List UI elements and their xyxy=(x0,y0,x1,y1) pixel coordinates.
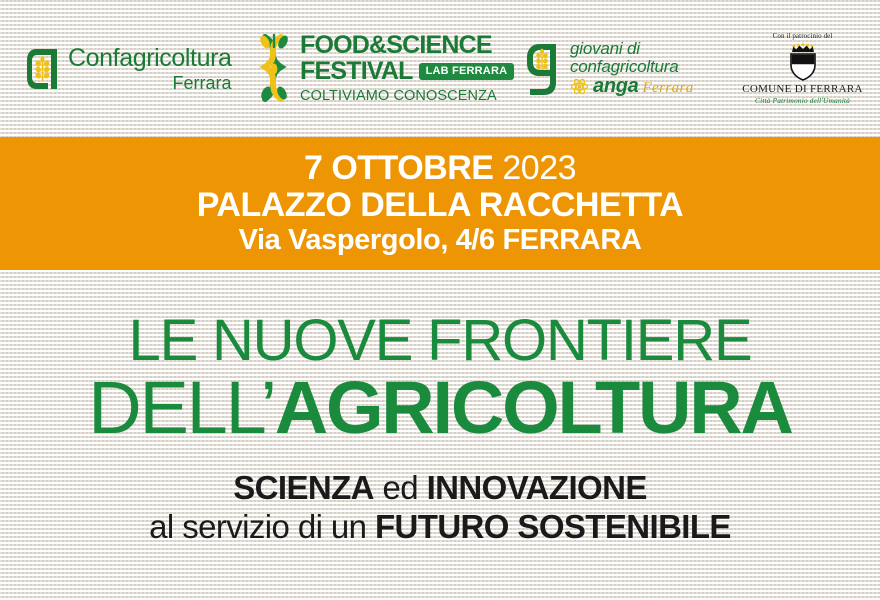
comune-patronage-label: Con il patrocinio del xyxy=(742,32,863,40)
flower-atom-icon xyxy=(570,77,589,96)
anga-line2: confagricoltura xyxy=(570,58,694,75)
event-date-line: 7 OTTOBRE 2023 xyxy=(304,151,576,186)
anga-line3: anga xyxy=(593,76,638,96)
poster-subheadline: SCIENZA ed INNOVAZIONE al servizio di un… xyxy=(0,470,880,544)
event-address-street: Via Vaspergolo, 4/6 xyxy=(239,224,495,256)
dna-wheat-helix-icon xyxy=(255,33,293,105)
subheadline-phrase-servizio: al servizio di un xyxy=(149,508,366,545)
subheadline-line-2: al servizio di un FUTURO SOSTENIBILE xyxy=(0,509,880,545)
comune-unesco-label: Città Patrimonio dell'Umanità xyxy=(742,97,863,106)
wheat-ear-in-letter-g-icon xyxy=(525,40,565,98)
subheadline-word-ed: ed xyxy=(383,469,419,506)
fsf-line1: FOOD&SCIENCE xyxy=(300,33,514,58)
wheat-ear-in-letter-a-icon xyxy=(26,47,60,91)
headline-line-2-keyword: AGRICOLTURA xyxy=(275,366,792,449)
logo-comune-ferrara: Con il patrocinio del xyxy=(725,0,880,137)
anga-city: Ferrara xyxy=(642,81,693,96)
event-poster: Confagricoltura Ferrara xyxy=(0,0,880,600)
poster-headline: LE NUOVE FRONTIERE DELL’AGRICOLTURA xyxy=(0,312,880,445)
event-date-day: 7 OTTOBRE xyxy=(304,149,493,187)
subheadline-phrase-futuro: FUTURO SOSTENIBILE xyxy=(375,508,731,545)
logo-anga-giovani: giovani di confagricoltura xyxy=(525,0,725,137)
crowned-shield-crest-icon xyxy=(783,41,823,81)
logo-confagricoltura: Confagricoltura Ferrara xyxy=(0,0,255,137)
fsf-line2: FESTIVAL xyxy=(300,59,413,84)
comune-name: COMUNE DI FERRARA xyxy=(742,83,863,96)
event-venue: PALAZZO DELLA RACCHETTA xyxy=(197,188,683,223)
headline-line-1: LE NUOVE FRONTIERE xyxy=(0,312,880,370)
fsf-lab-badge: LAB FERRARA xyxy=(419,63,515,80)
anga-line1: giovani di xyxy=(570,40,694,57)
event-address-line: Via Vaspergolo, 4/6 FERRARA xyxy=(239,226,642,256)
confagricoltura-name: Confagricoltura xyxy=(68,44,232,72)
sponsor-logo-strip: Confagricoltura Ferrara xyxy=(0,0,880,137)
logo-food-science-festival: FOOD&SCIENCE FESTIVAL LAB FERRARA COLTIV… xyxy=(255,0,525,137)
confagricoltura-city: Ferrara xyxy=(68,74,232,92)
headline-line-2: DELL’AGRICOLTURA xyxy=(0,372,880,445)
headline-line-2-prefix: DELL’ xyxy=(88,366,274,449)
subheadline-word-innovazione: INNOVAZIONE xyxy=(427,469,647,506)
event-details-banner: 7 OTTOBRE 2023 PALAZZO DELLA RACCHETTA V… xyxy=(0,137,880,270)
event-date-year: 2023 xyxy=(502,149,576,187)
event-address-city: FERRARA xyxy=(502,224,641,256)
subheadline-line-1: SCIENZA ed INNOVAZIONE xyxy=(0,470,880,506)
fsf-tagline: COLTIVIAMO CONOSCENZA xyxy=(300,89,514,104)
subheadline-word-scienza: SCIENZA xyxy=(233,469,374,506)
